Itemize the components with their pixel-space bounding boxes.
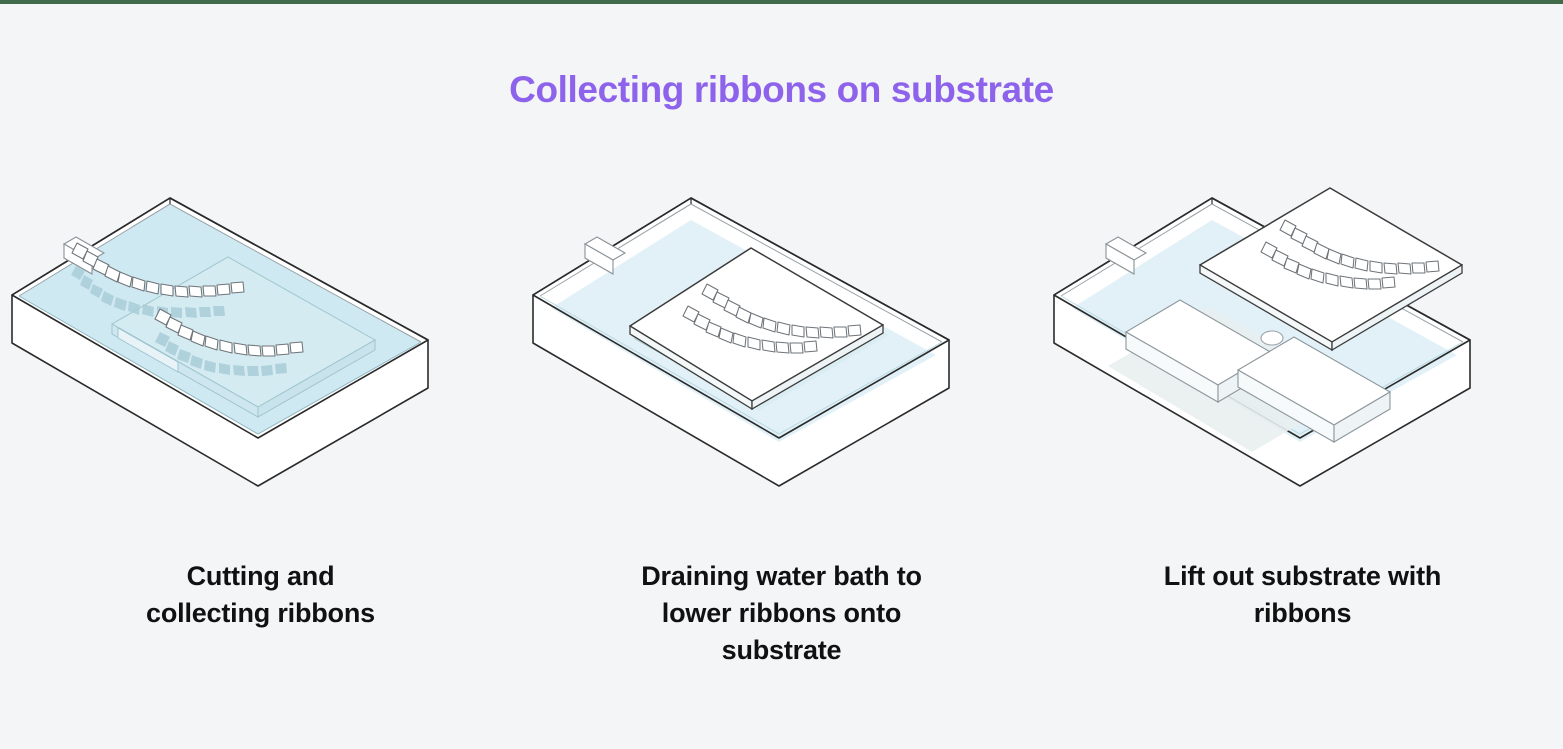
panel-lift-out: Lift out substrate with ribbons	[1042, 180, 1563, 680]
caption-line: lower ribbons onto	[521, 595, 1042, 632]
caption-line: Cutting and	[0, 558, 521, 595]
panel-draining: Draining water bath to lower ribbons ont…	[521, 180, 1042, 680]
panel-row: Cutting and collecting ribbons	[0, 180, 1563, 680]
panel-caption-draining: Draining water bath to lower ribbons ont…	[521, 558, 1042, 669]
top-rule	[0, 0, 1563, 4]
figure-substrate-lifted	[1042, 180, 1563, 520]
figure-water-bath-full	[0, 180, 521, 520]
panel-cutting: Cutting and collecting ribbons	[0, 180, 521, 680]
caption-line: Draining water bath to	[521, 558, 1042, 595]
page-title: Collecting ribbons on substrate	[0, 68, 1563, 112]
panel-caption-cutting: Cutting and collecting ribbons	[0, 558, 521, 632]
caption-line: Lift out substrate with	[1042, 558, 1563, 595]
caption-line: collecting ribbons	[0, 595, 521, 632]
caption-line: substrate	[521, 632, 1042, 669]
panel-caption-lift-out: Lift out substrate with ribbons	[1042, 558, 1563, 632]
figure-water-bath-draining	[521, 180, 1042, 520]
knob-icon	[1261, 331, 1283, 345]
caption-line: ribbons	[1042, 595, 1563, 632]
